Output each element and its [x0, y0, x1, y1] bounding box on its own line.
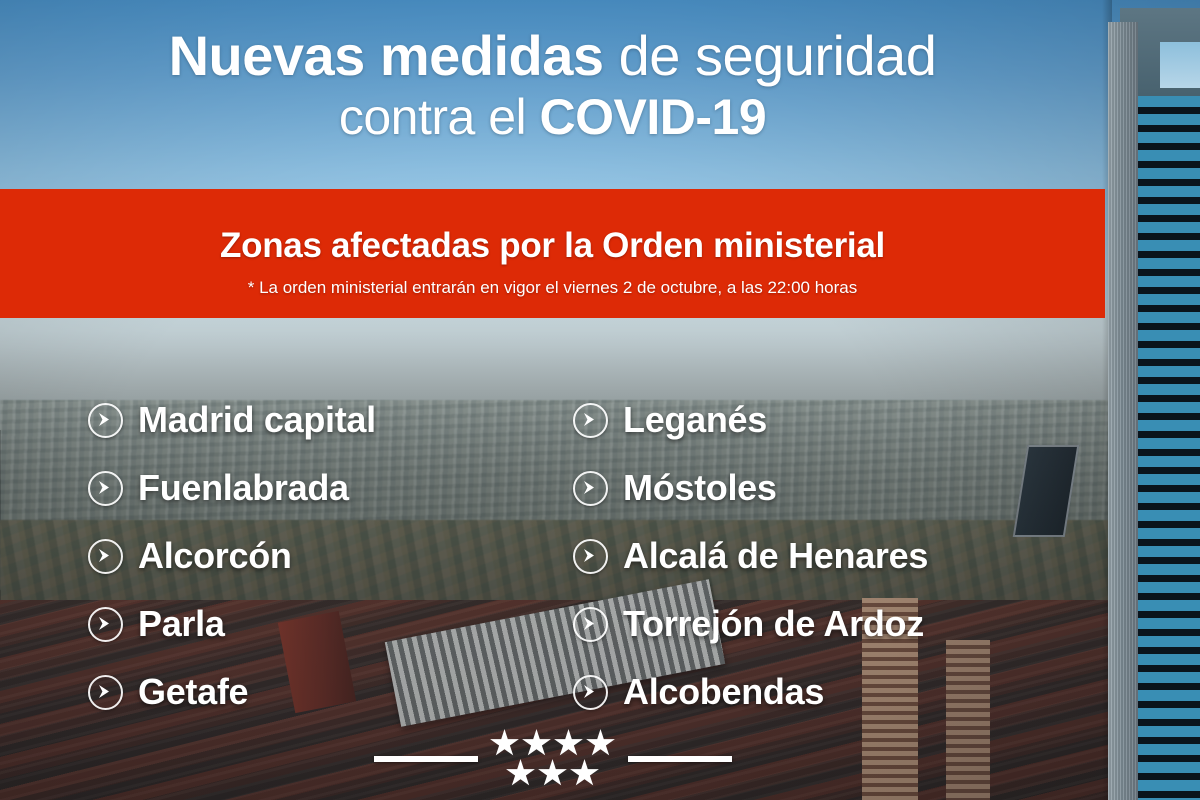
zone-label: Torrejón de Ardoz	[623, 603, 924, 645]
headline-bold-1: Nuevas medidas	[169, 24, 604, 87]
headline-bold-2: COVID-19	[540, 89, 767, 145]
zone-label: Leganés	[623, 399, 767, 441]
headline-light-2: contra el	[339, 89, 540, 145]
star-icon	[538, 759, 568, 788]
zone-label: Móstoles	[623, 467, 777, 509]
comunidad-de-madrid-emblem	[0, 729, 1105, 788]
star-icon	[586, 729, 616, 758]
chevron-right-circle-icon	[88, 607, 123, 642]
chevron-right-circle-icon	[573, 607, 608, 642]
zone-label: Fuenlabrada	[138, 467, 349, 509]
list-item[interactable]: Móstoles	[573, 454, 1105, 522]
star-row-top	[490, 729, 616, 758]
list-item[interactable]: Fuenlabrada	[88, 454, 560, 522]
covid-measures-infographic: Nuevas medidas de seguridad contra el CO…	[0, 0, 1200, 800]
page-title: Nuevas medidas de seguridad contra el CO…	[0, 26, 1105, 144]
seven-stars-icon	[490, 729, 616, 788]
chevron-right-circle-icon	[88, 675, 123, 710]
star-row-bottom	[506, 759, 600, 788]
chevron-right-circle-icon	[573, 403, 608, 438]
emblem-rule-left	[374, 756, 478, 762]
list-item[interactable]: Alcobendas	[573, 658, 1105, 726]
skyscraper-concrete-core	[1108, 22, 1138, 800]
zone-label: Alcalá de Henares	[623, 535, 928, 577]
list-item[interactable]: Alcalá de Henares	[573, 522, 1105, 590]
headline-line-2: contra el COVID-19	[0, 91, 1105, 144]
headline-light-1: de seguridad	[604, 24, 937, 87]
star-icon	[570, 759, 600, 788]
zone-label: Alcorcón	[138, 535, 292, 577]
affected-zones-section: Madrid capital Fuenlabrada Alcorcón Parl…	[0, 386, 1105, 726]
star-icon	[522, 729, 552, 758]
chevron-right-circle-icon	[88, 403, 123, 438]
zone-label: Madrid capital	[138, 399, 376, 441]
chevron-right-circle-icon	[573, 539, 608, 574]
star-icon	[490, 729, 520, 758]
zone-label: Parla	[138, 603, 225, 645]
zone-label: Getafe	[138, 671, 248, 713]
emblem-rule-right	[628, 756, 732, 762]
skyscraper-glass-facade	[1138, 96, 1200, 800]
zone-list-left-column: Madrid capital Fuenlabrada Alcorcón Parl…	[0, 386, 560, 726]
chevron-right-circle-icon	[573, 471, 608, 506]
banner-title: Zonas afectadas por la Orden ministerial	[220, 226, 885, 266]
banner-footnote: * La orden ministerial entrarán en vigor…	[248, 278, 858, 298]
chevron-right-circle-icon	[88, 539, 123, 574]
red-banner: Zonas afectadas por la Orden ministerial…	[0, 189, 1105, 318]
skyscraper-crown-gap	[1160, 42, 1200, 88]
list-item[interactable]: Getafe	[88, 658, 560, 726]
star-icon	[506, 759, 536, 788]
list-item[interactable]: Parla	[88, 590, 560, 658]
skyscraper-illustration	[1108, 0, 1200, 800]
list-item[interactable]: Alcorcón	[88, 522, 560, 590]
list-item[interactable]: Leganés	[573, 386, 1105, 454]
headline-line-1: Nuevas medidas de seguridad	[0, 26, 1105, 85]
zone-list-right-column: Leganés Móstoles Alcalá de Henares Torre…	[560, 386, 1105, 726]
star-icon	[554, 729, 584, 758]
list-item[interactable]: Madrid capital	[88, 386, 560, 454]
chevron-right-circle-icon	[88, 471, 123, 506]
list-item[interactable]: Torrejón de Ardoz	[573, 590, 1105, 658]
zone-label: Alcobendas	[623, 671, 824, 713]
chevron-right-circle-icon	[573, 675, 608, 710]
